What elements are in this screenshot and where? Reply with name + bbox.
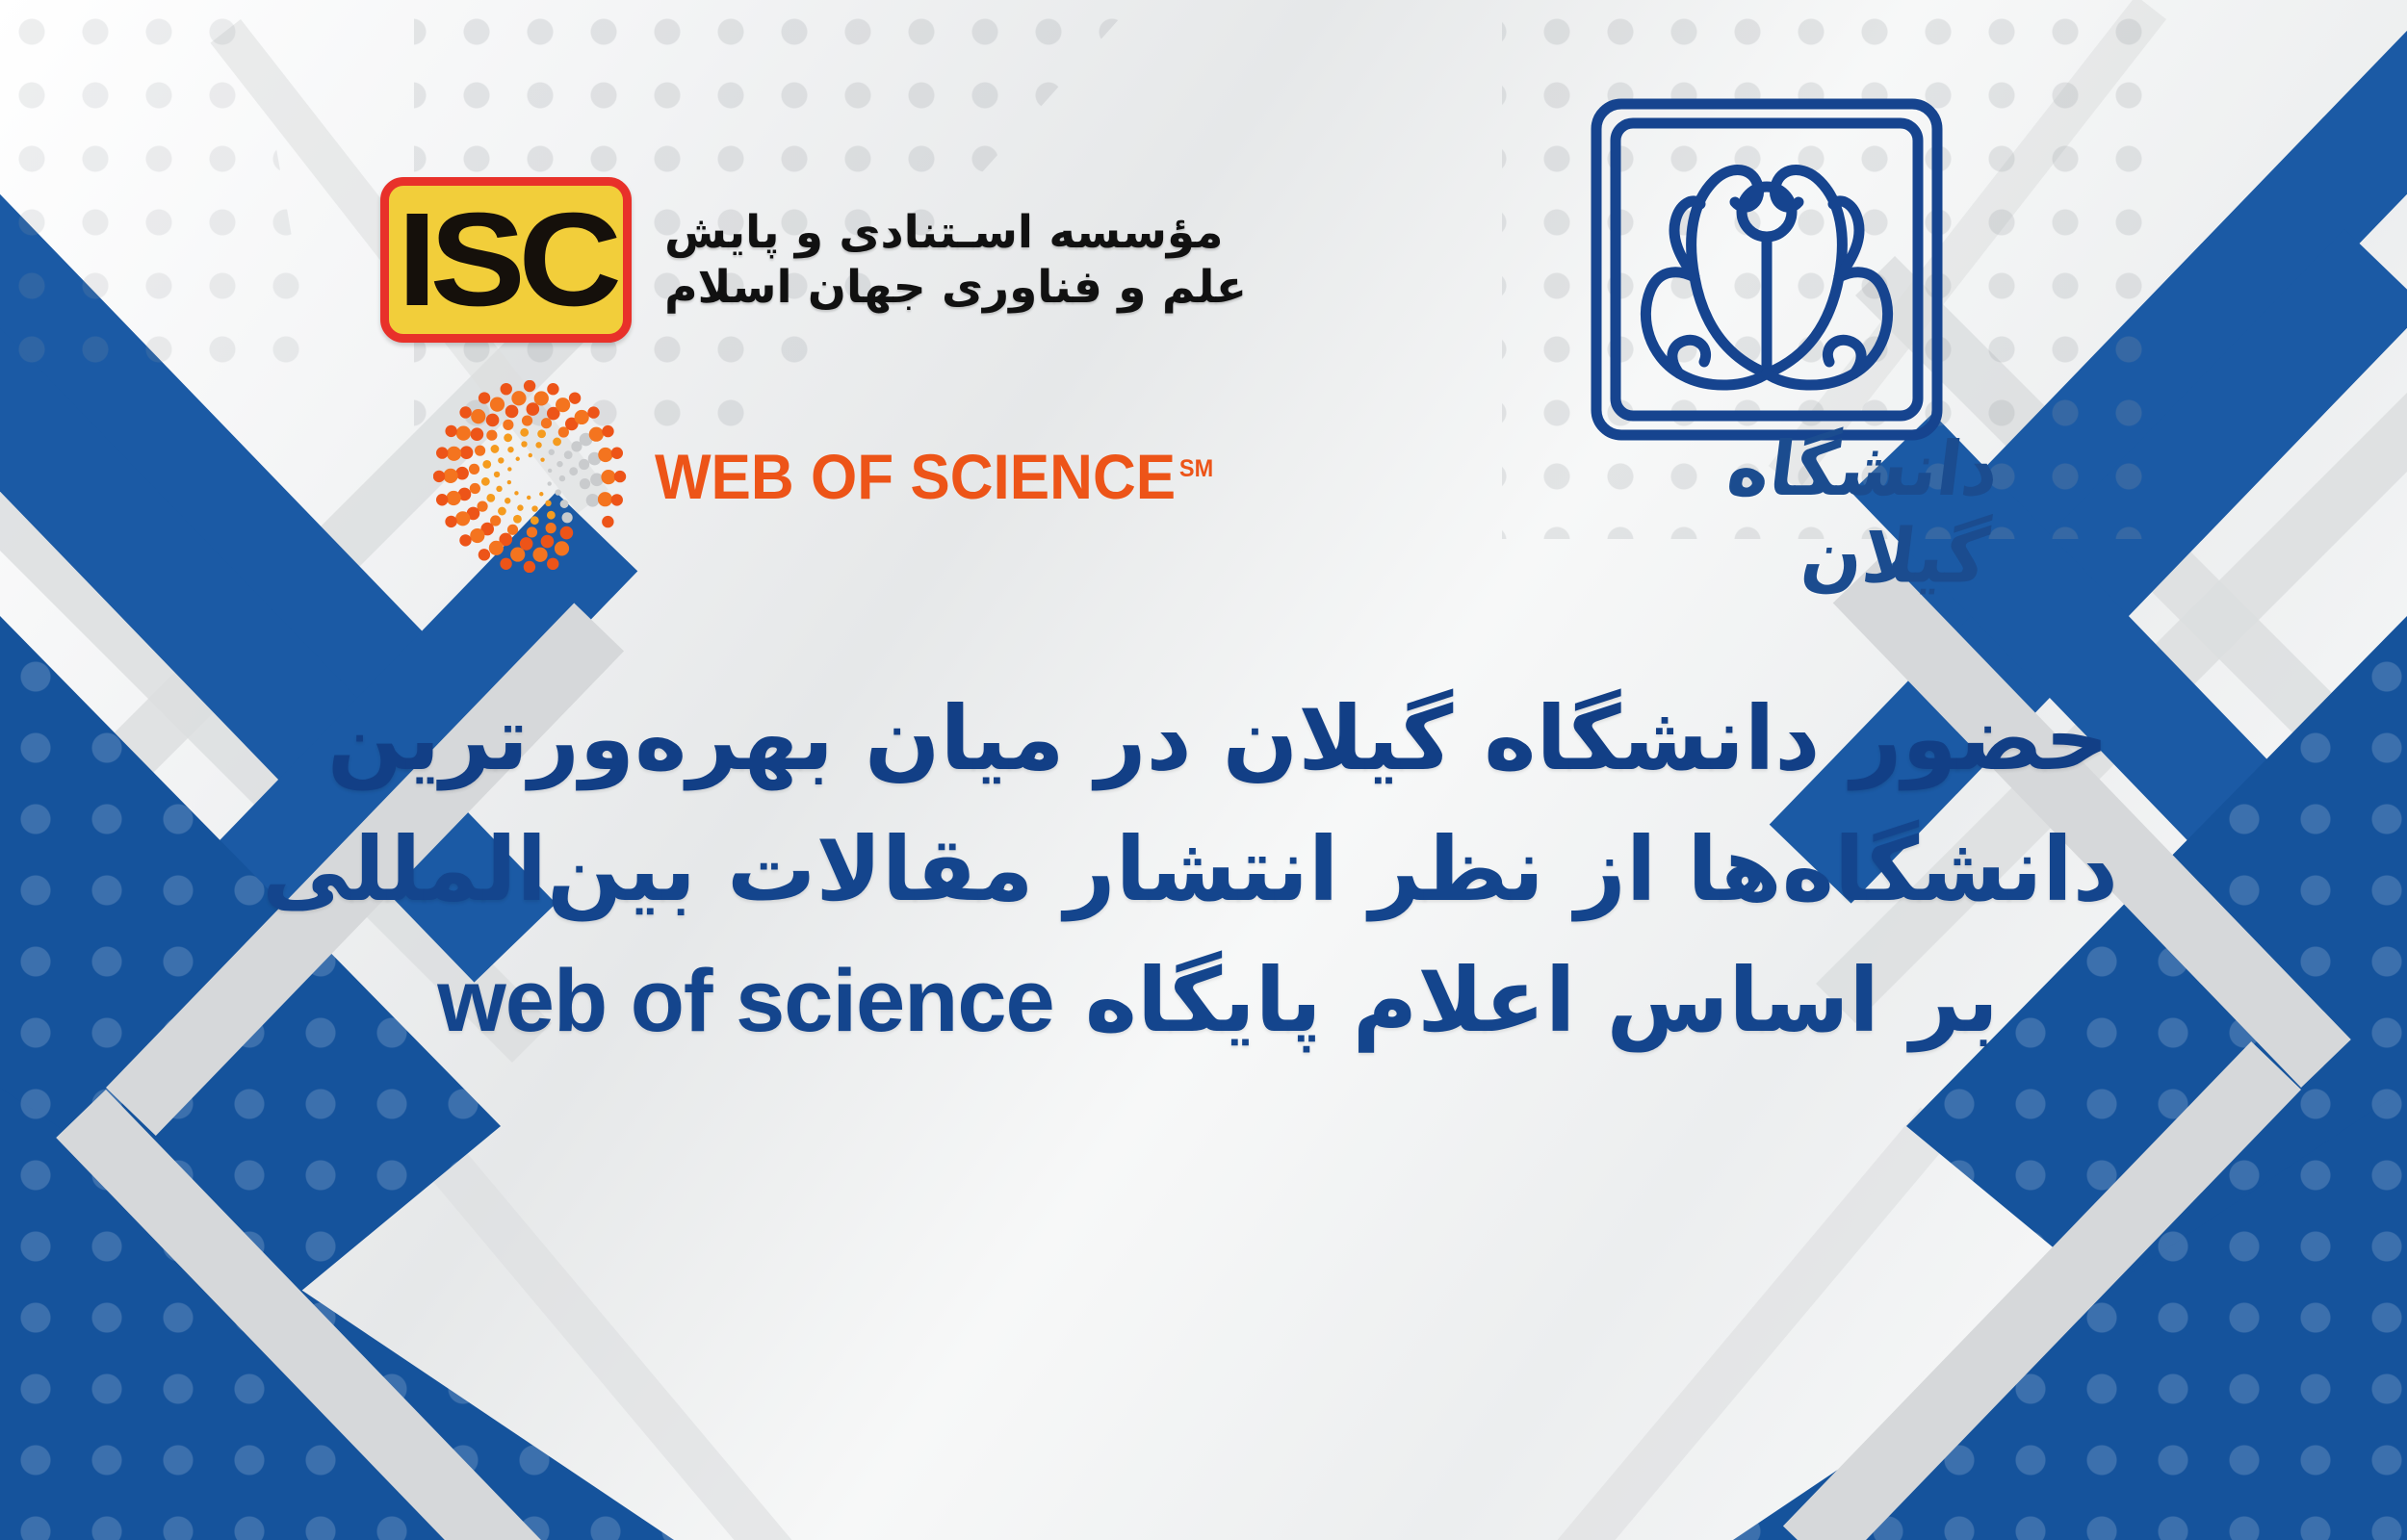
headline-line-1: حضور دانشگاه گیلان در میان بهره‌ورترین (318, 674, 2118, 805)
service-mark-icon: SM (1179, 455, 1213, 482)
isc-logo-wordmark: مؤسسه اسـتنادی و پایش علم و فناوری جهان … (664, 205, 1247, 316)
headline-line-2: دانشگاه‌ها از نظر انتشار مقالات بین‌المل… (318, 805, 2118, 936)
headline: حضور دانشگاه گیلان در میان بهره‌ورترین د… (318, 674, 2118, 1066)
university-of-guilan-logo: دانشگاه گیلان (1531, 58, 1993, 597)
headline-line-3-fa: بر اساس اعلام پایگاه (1054, 949, 1999, 1052)
headline-line-3: بر اساس اعلام پایگاه web of science (318, 936, 2118, 1066)
clarivate-dot-spiral-icon (433, 380, 632, 573)
web-of-science-wordmark: WEB OF SCIENCESM (655, 440, 1213, 513)
banner-root: مؤسسه اسـتنادی و پایش علم و فناوری جهان … (0, 0, 2407, 1540)
isc-logo-line2: علم و فناوری جهان اسلام (664, 260, 1247, 315)
isc-logo: مؤسسه اسـتنادی و پایش علم و فناوری جهان … (380, 144, 1247, 375)
isc-logo-line1: مؤسسه اسـتنادی و پایش (664, 205, 1223, 260)
headline-line-3-latin: web of science (437, 952, 1053, 1050)
university-of-guilan-title: دانشگاه گیلان (1521, 437, 2002, 589)
web-of-science-label: WEB OF SCIENCE (655, 441, 1176, 512)
isc-logo-mark: ISC (380, 177, 632, 343)
guilan-emblem-icon (1579, 67, 1954, 452)
isc-logo-mark-text: ISC (398, 193, 615, 326)
web-of-science-logo: WEB OF SCIENCESM (433, 380, 1232, 573)
